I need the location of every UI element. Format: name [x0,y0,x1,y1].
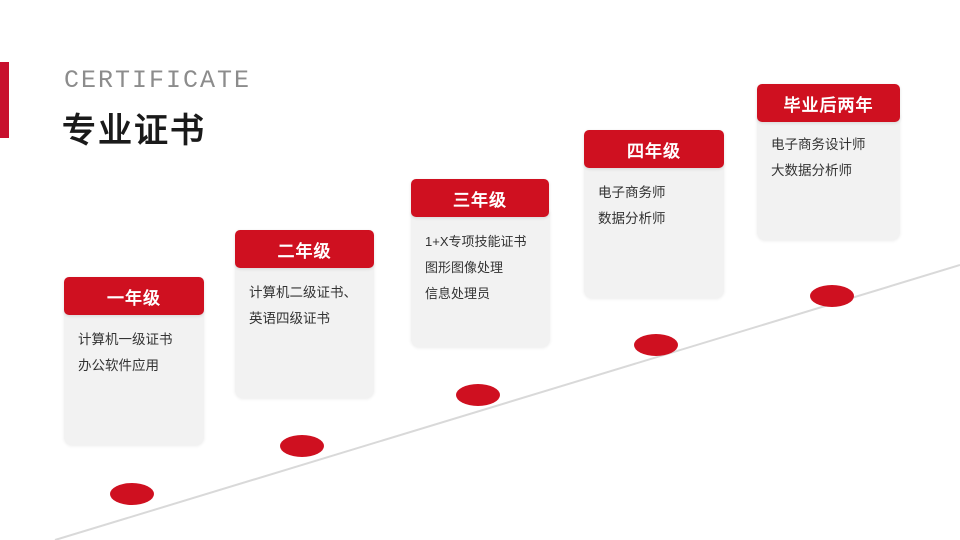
certificate-card[interactable]: 四年级 电子商务师 数据分析师 [584,158,724,298]
certificate-card-body: 1+X专项技能证书 图形图像处理 信息处理员 [411,207,550,325]
timeline-dot [634,334,678,356]
certificate-item: 办公软件应用 [78,353,190,379]
certificate-item: 大数据分析师 [771,158,886,184]
page-title: 专业证书 [62,103,206,152]
timeline-dot [110,483,154,505]
certificate-card-title: 毕业后两年 [757,84,900,122]
certificate-card[interactable]: 二年级 计算机二级证书、 英语四级证书 [235,258,374,398]
timeline-dot [456,384,500,406]
certificate-item: 信息处理员 [425,281,536,307]
certificate-item: 计算机二级证书、 [249,280,360,306]
certificate-card-title: 三年级 [411,179,549,217]
slide-canvas: CERTIFICATE 专业证书 一年级 计算机一级证书 办公软件应用 二年级 … [0,0,960,540]
header-accent-bar [0,62,9,138]
certificate-card-body: 电子商务师 数据分析师 [584,158,724,250]
certificate-card-title: 二年级 [235,230,374,268]
certificate-card-body: 电子商务设计师 大数据分析师 [757,110,900,202]
certificate-item: 1+X专项技能证书 [425,229,536,255]
certificate-card[interactable]: 一年级 计算机一级证书 办公软件应用 [64,305,204,445]
certificate-card-body: 计算机二级证书、 英语四级证书 [235,258,374,350]
page-subtitle-english: CERTIFICATE [64,66,251,95]
certificate-card[interactable]: 三年级 1+X专项技能证书 图形图像处理 信息处理员 [411,207,550,347]
certificate-item: 英语四级证书 [249,306,360,332]
certificate-card-title: 四年级 [584,130,724,168]
certificate-item: 电子商务师 [598,180,710,206]
timeline-dot [810,285,854,307]
certificate-card-title: 一年级 [64,277,204,315]
certificate-item: 电子商务设计师 [771,132,886,158]
certificate-card-body: 计算机一级证书 办公软件应用 [64,305,204,397]
certificate-card[interactable]: 毕业后两年 电子商务设计师 大数据分析师 [757,110,900,240]
certificate-item: 计算机一级证书 [78,327,190,353]
certificate-item: 图形图像处理 [425,255,536,281]
timeline-dot [280,435,324,457]
certificate-item: 数据分析师 [598,206,710,232]
